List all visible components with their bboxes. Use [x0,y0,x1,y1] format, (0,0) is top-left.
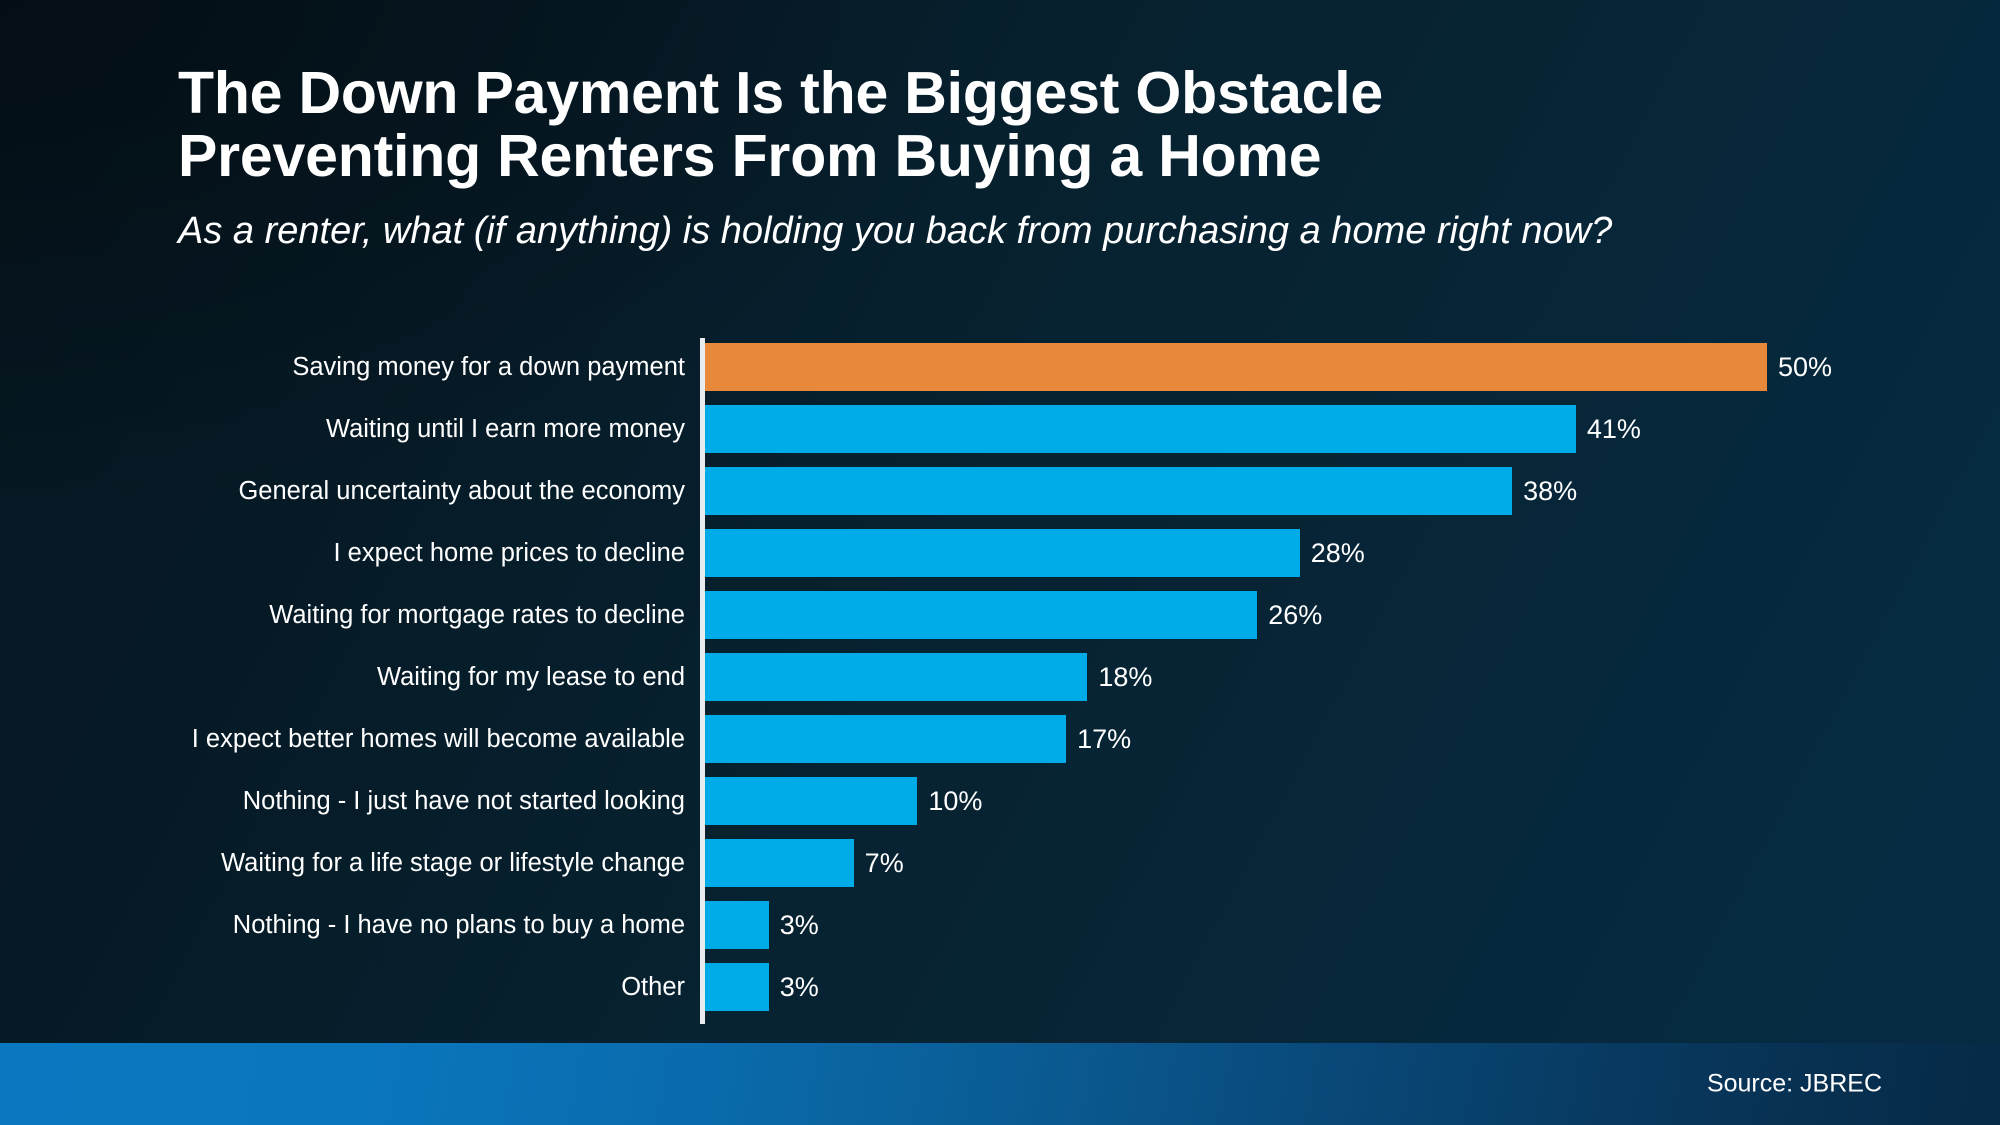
bar-value-label: 3% [780,912,819,939]
bar-track: 41% [705,398,1641,460]
bar-value-label: 7% [865,850,904,877]
bar[interactable] [705,777,917,825]
bar[interactable] [705,405,1576,453]
bar-row: Nothing - I just have not started lookin… [0,770,2000,832]
bar-row: Waiting for my lease to end18% [0,646,2000,708]
bar-category-label: Other [621,956,685,1018]
bar[interactable] [705,653,1087,701]
page-title-line2: Preventing Renters From Buying a Home [178,125,1878,188]
bar-value-label: 28% [1311,540,1365,567]
bar-value-label: 3% [780,974,819,1001]
bar-value-label: 10% [928,788,982,815]
bar-track: 28% [705,522,1365,584]
bar-row: Waiting until I earn more money41% [0,398,2000,460]
footer-bar: Source: JBREC [0,1043,2000,1125]
bar-category-label: Nothing - I have no plans to buy a home [233,894,685,956]
bar-category-label: Saving money for a down payment [292,336,685,398]
bar-category-label: Waiting for my lease to end [377,646,685,708]
bar-row: I expect home prices to decline28% [0,522,2000,584]
bar[interactable] [705,591,1257,639]
bar-row: Waiting for a life stage or lifestyle ch… [0,832,2000,894]
bar[interactable] [705,715,1066,763]
bar[interactable] [705,343,1767,391]
source-label: Source: JBREC [1707,1070,1882,1099]
bar-track: 26% [705,584,1322,646]
bar-track: 38% [705,460,1577,522]
bar-track: 10% [705,770,982,832]
bar-category-label: Waiting for mortgage rates to decline [269,584,685,646]
bar-category-label: I expect home prices to decline [333,522,685,584]
bar[interactable] [705,529,1300,577]
bar-chart: Saving money for a down payment50%Waitin… [0,336,2000,1026]
bar-category-label: Nothing - I just have not started lookin… [243,770,685,832]
bar-value-label: 41% [1587,416,1641,443]
slide-root: The Down Payment Is the Biggest Obstacle… [0,0,2000,1125]
bar-value-label: 50% [1778,354,1832,381]
bar-value-label: 17% [1077,726,1131,753]
bar-value-label: 18% [1098,664,1152,691]
bar[interactable] [705,901,769,949]
bar-category-label: Waiting until I earn more money [326,398,685,460]
bar-value-label: 26% [1268,602,1322,629]
bar-row: Nothing - I have no plans to buy a home3… [0,894,2000,956]
bar-category-label: General uncertainty about the economy [238,460,685,522]
bar[interactable] [705,963,769,1011]
bar-track: 18% [705,646,1152,708]
page-subtitle: As a renter, what (if anything) is holdi… [178,209,1878,255]
bar-track: 3% [705,894,819,956]
bar-category-label: I expect better homes will become availa… [192,708,685,770]
bar-track: 7% [705,832,904,894]
bar-category-label: Waiting for a life stage or lifestyle ch… [221,832,685,894]
bar-track: 3% [705,956,819,1018]
bar-row: General uncertainty about the economy38% [0,460,2000,522]
bar-row: I expect better homes will become availa… [0,708,2000,770]
bar-row: Other3% [0,956,2000,1018]
bar[interactable] [705,839,854,887]
bar[interactable] [705,467,1512,515]
bar-rows-container: Saving money for a down payment50%Waitin… [0,336,2000,1026]
page-title-line1: The Down Payment Is the Biggest Obstacle [178,62,1878,125]
header-block: The Down Payment Is the Biggest Obstacle… [178,62,1878,255]
bar-value-label: 38% [1523,478,1577,505]
bar-row: Saving money for a down payment50% [0,336,2000,398]
bar-track: 50% [705,336,1832,398]
bar-row: Waiting for mortgage rates to decline26% [0,584,2000,646]
bar-track: 17% [705,708,1131,770]
